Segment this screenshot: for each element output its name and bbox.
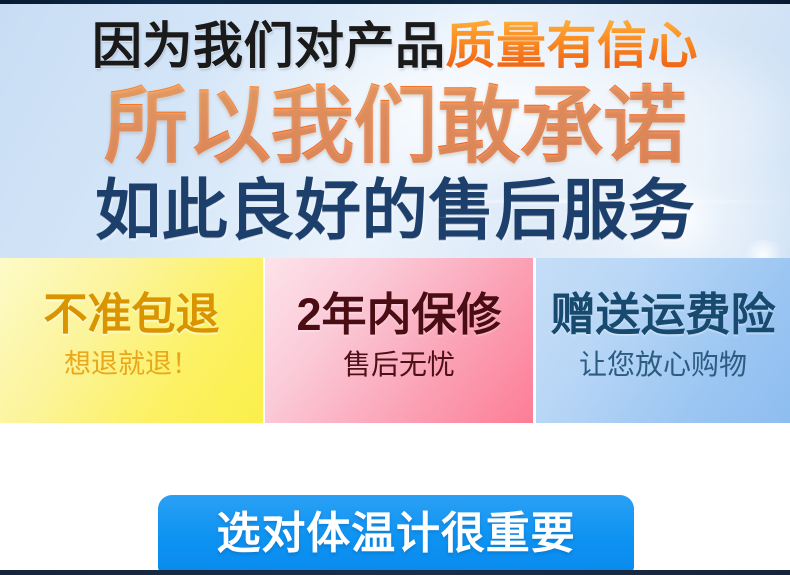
benefit-title-shipping-insurance: 赠送运费险	[536, 289, 790, 341]
benefit-panel-return: 不准包退 想退就退！	[0, 258, 263, 423]
benefit-panel-shipping-insurance: 赠送运费险 让您放心购物	[536, 258, 790, 423]
promo-banner: 因为我们对产品质量有信心 所以我们敢承诺 如此良好的售后服务 不准包退 想退就退…	[0, 0, 790, 575]
benefit-subtitle-return: 想退就退！	[0, 348, 263, 380]
headline-line-1-accent: 质量有信心	[446, 18, 699, 74]
headline-line-3: 如此良好的售后服务	[0, 172, 790, 248]
benefit-panel-warranty: 2年内保修 售后无忧	[265, 258, 533, 423]
benefit-subtitle-warranty: 售后无忧	[265, 348, 533, 381]
benefits-panel-group: 不准包退 想退就退！ 2年内保修 售后无忧 赠送运费险 让您放心购物	[0, 258, 790, 423]
headline-line-2-text: 所以我们敢承诺	[104, 79, 686, 173]
bottom-rail	[0, 570, 790, 575]
header-section: 因为我们对产品质量有信心 所以我们敢承诺 如此良好的售后服务	[0, 4, 790, 258]
cta-button[interactable]: 选对体温计很重要	[158, 495, 634, 573]
headline-line-2: 所以我们敢承诺	[0, 79, 790, 173]
top-rail	[0, 0, 790, 4]
benefit-subtitle-shipping-insurance: 让您放心购物	[536, 348, 790, 381]
cta-section: 选对体温计很重要	[0, 423, 790, 575]
headline-line-1: 因为我们对产品质量有信心	[0, 18, 790, 74]
benefit-title-warranty: 2年内保修	[265, 289, 533, 341]
headline-line-1-dark: 因为我们对产品	[92, 18, 446, 74]
benefit-title-return: 不准包退	[0, 290, 263, 340]
